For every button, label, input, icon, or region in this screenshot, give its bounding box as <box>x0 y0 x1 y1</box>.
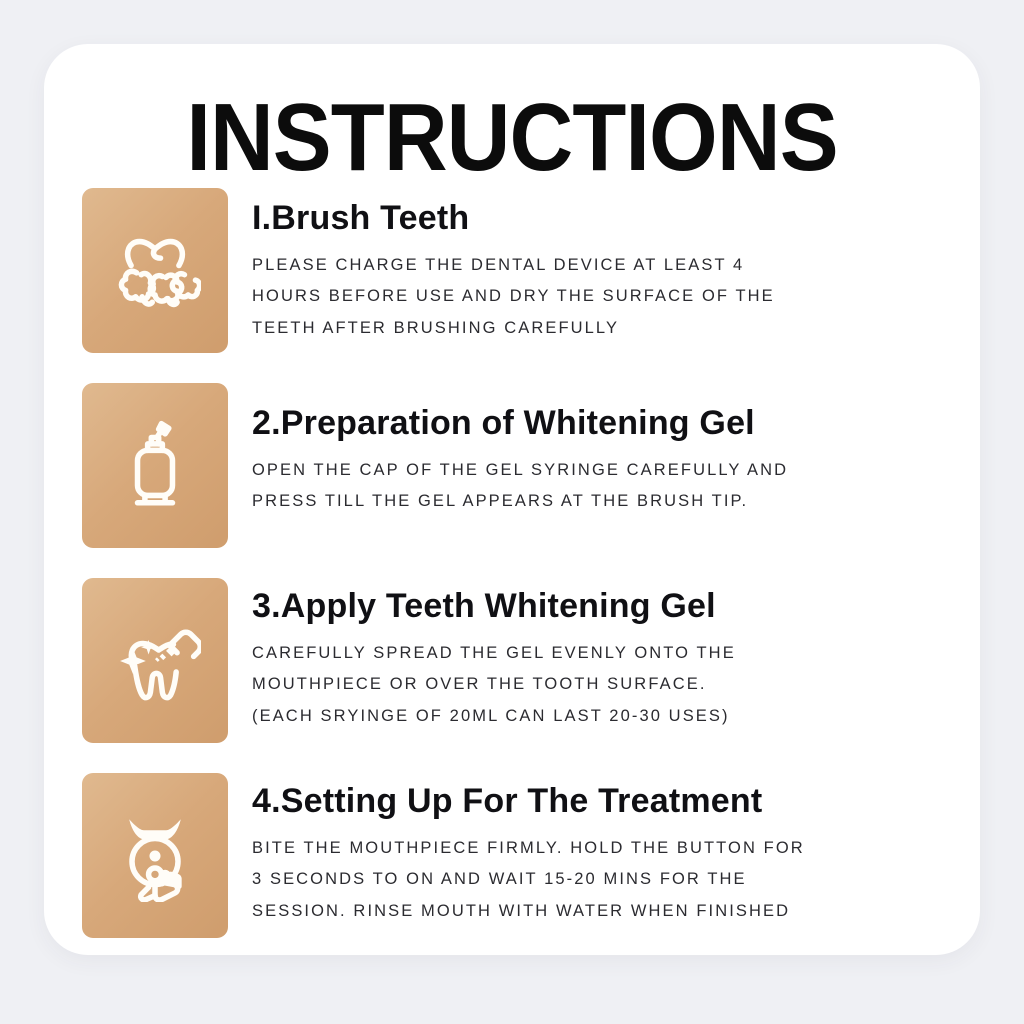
step-body-line: (EACH SRYINGE OF 20ML CAN LAST 20-30 USE… <box>252 701 980 733</box>
step-text: I.Brush Teeth PLEASE CHARGE THE DENTAL D… <box>252 188 980 345</box>
step-body: PLEASE CHARGE THE DENTAL DEVICE AT LEAST… <box>252 250 980 345</box>
step-body-line: CAREFULLY SPREAD THE GEL EVENLY ONTO THE <box>252 638 980 670</box>
step-icon-tile <box>82 773 228 938</box>
step-heading: I.Brush Teeth <box>252 200 980 237</box>
step-text: 2.Preparation of Whitening Gel OPEN THE … <box>252 383 980 518</box>
step-heading: 4.Setting Up For The Treatment <box>252 783 980 820</box>
mouthpiece-button-press-icon <box>109 810 201 902</box>
tooth-with-gel-applicator-icon <box>109 615 201 707</box>
step-body-line: MOUTHPIECE OR OVER THE TOOTH SURFACE. <box>252 669 980 701</box>
step-body: OPEN THE CAP OF THE GEL SYRINGE CAREFULL… <box>252 455 980 518</box>
page-title: INSTRUCTIONS <box>81 90 942 186</box>
step-body-line: BITE THE MOUTHPIECE FIRMLY. HOLD THE BUT… <box>252 833 980 865</box>
steps-list: I.Brush Teeth PLEASE CHARGE THE DENTAL D… <box>82 188 980 938</box>
step-heading: 3.Apply Teeth Whitening Gel <box>252 588 980 625</box>
step-body-line: PRESS TILL THE GEL APPEARS AT THE BRUSH … <box>252 486 980 518</box>
step-item: I.Brush Teeth PLEASE CHARGE THE DENTAL D… <box>82 188 980 353</box>
step-icon-tile <box>82 578 228 743</box>
step-body-line: OPEN THE CAP OF THE GEL SYRINGE CAREFULL… <box>252 455 980 487</box>
step-item: 3.Apply Teeth Whitening Gel CAREFULLY SP… <box>82 578 980 743</box>
step-heading: 2.Preparation of Whitening Gel <box>252 405 980 442</box>
step-body: BITE THE MOUTHPIECE FIRMLY. HOLD THE BUT… <box>252 833 980 928</box>
step-body-line: TEETH AFTER BRUSHING CAREFULLY <box>252 313 980 345</box>
step-icon-tile <box>82 188 228 353</box>
gel-syringe-icon <box>109 420 201 512</box>
step-text: 3.Apply Teeth Whitening Gel CAREFULLY SP… <box>252 578 980 733</box>
step-item: 2.Preparation of Whitening Gel OPEN THE … <box>82 383 980 548</box>
step-text: 4.Setting Up For The Treatment BITE THE … <box>252 773 980 928</box>
step-item: 4.Setting Up For The Treatment BITE THE … <box>82 773 980 938</box>
instructions-card: INSTRUCTIONS I.Brush Teeth PLEASE CHARGE… <box>44 44 980 955</box>
step-body-line: SESSION. RINSE MOUTH WITH WATER WHEN FIN… <box>252 896 980 928</box>
step-icon-tile <box>82 383 228 548</box>
step-body-line: HOURS BEFORE USE AND DRY THE SURFACE OF … <box>252 281 980 313</box>
step-body: CAREFULLY SPREAD THE GEL EVENLY ONTO THE… <box>252 638 980 733</box>
step-body-line: PLEASE CHARGE THE DENTAL DEVICE AT LEAST… <box>252 250 980 282</box>
tooth-with-foam-icon <box>109 225 201 317</box>
step-body-line: 3 SECONDS TO ON AND WAIT 15-20 MINS FOR … <box>252 864 980 896</box>
